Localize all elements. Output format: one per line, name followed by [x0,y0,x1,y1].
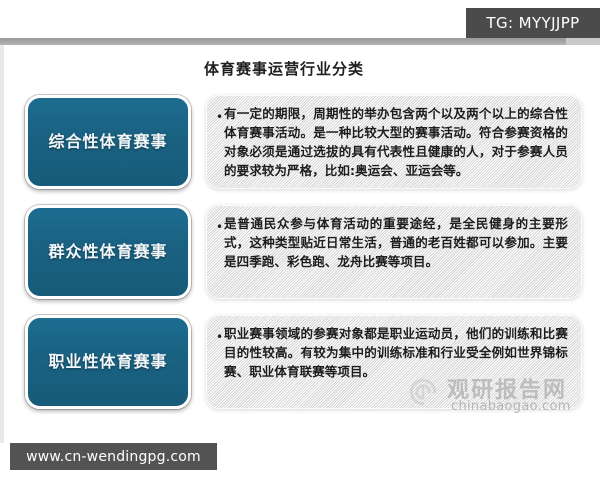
category-description-panel: • 职业赛事领域的参赛对象都是职业运动员，他们的训练和比赛目的性较高。有较为集中… [206,315,582,409]
category-chip-label: 职业性体育赛事 [40,350,175,375]
category-chip-professional[interactable]: 职业性体育赛事 [25,315,191,409]
bullet-icon: • [216,214,224,233]
top-rail-cap [566,38,600,45]
category-chip-mass[interactable]: 群众性体育赛事 [25,205,191,299]
table-row: 群众性体育赛事 • 是普通民众参与体育活动的重要途经，是全民健身的主要形式，这种… [18,202,588,302]
bullet-icon: • [216,104,224,123]
category-description-text: 职业赛事领域的参赛对象都是职业运动员，他们的训练和比赛目的性较高。有较为集中的训… [224,324,568,381]
category-description-text: 有一定的期限，周期性的举办包含两个以及两个以上的综合性体育赛事活动。是一种比较大… [224,104,568,180]
page-title: 体育赛事运营行业分类 [4,58,564,79]
tg-watermark-badge: TG: MYYJJPP [466,8,600,38]
table-row: 职业性体育赛事 • 职业赛事领域的参赛对象都是职业运动员，他们的训练和比赛目的性… [18,312,588,412]
category-description-panel: • 有一定的期限，周期性的举办包含两个以及两个以上的综合性体育赛事活动。是一种比… [206,95,582,189]
category-description-panel: • 是普通民众参与体育活动的重要途经，是全民健身的主要形式，这种类型贴近日常生活… [206,205,582,299]
category-chip-label: 群众性体育赛事 [40,240,175,265]
classification-card: 体育赛事运营行业分类 综合性体育赛事 • 有一定的期限，周期性的举办包含两个以及… [4,45,600,443]
table-row: 综合性体育赛事 • 有一定的期限，周期性的举办包含两个以及两个以上的综合性体育赛… [18,92,588,192]
category-chip-comprehensive[interactable]: 综合性体育赛事 [25,95,191,189]
category-description-text: 是普通民众参与体育活动的重要途经，是全民健身的主要形式，这种类型贴近日常生活，普… [224,214,568,271]
url-watermark-badge: www.cn-wendingpg.com [10,443,217,470]
category-chip-label: 综合性体育赛事 [40,130,175,155]
classification-row-list: 综合性体育赛事 • 有一定的期限，周期性的举办包含两个以及两个以上的综合性体育赛… [18,92,588,422]
top-rail-divider [0,38,600,45]
bullet-icon: • [216,324,224,343]
